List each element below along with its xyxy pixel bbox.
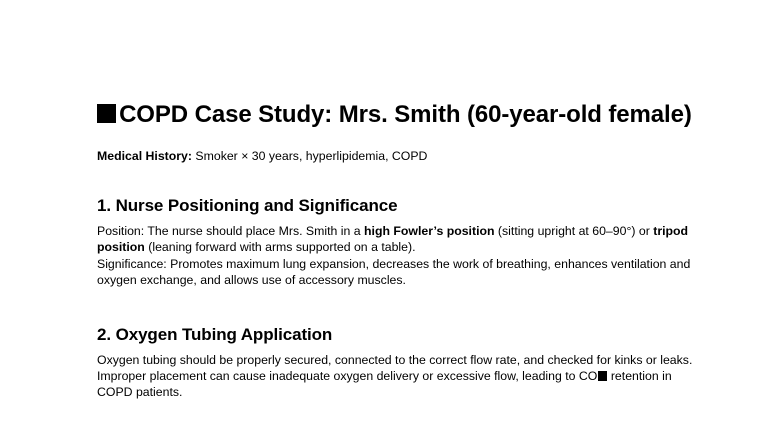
document-content: COPD Case Study: Mrs. Smith (60-year-old… xyxy=(97,100,693,401)
section-1-heading: 1. Nurse Positioning and Significance xyxy=(97,195,693,217)
section-2-paragraph: Oxygen tubing should be properly secured… xyxy=(97,352,693,401)
section-2-body: Oxygen tubing should be properly secured… xyxy=(97,352,693,401)
section-oxygen-tubing: 2. Oxygen Tubing Application Oxygen tubi… xyxy=(97,324,693,401)
black-square-tofu-icon xyxy=(598,371,608,381)
page-title-text: COPD Case Study: Mrs. Smith (60-year-old… xyxy=(119,101,692,128)
document-page: COPD Case Study: Mrs. Smith (60-year-old… xyxy=(0,0,784,441)
section-1-paragraph-significance: Significance: Promotes maximum lung expa… xyxy=(97,256,693,289)
page-title: COPD Case Study: Mrs. Smith (60-year-old… xyxy=(97,100,693,130)
medical-history-label: Medical History: xyxy=(97,149,192,163)
medical-history-line: Medical History: Smoker × 30 years, hype… xyxy=(97,148,693,164)
medical-history-value: Smoker × 30 years, hyperlipidemia, COPD xyxy=(195,149,427,163)
section-nurse-positioning: 1. Nurse Positioning and Significance Po… xyxy=(97,195,693,289)
section-2-heading: 2. Oxygen Tubing Application xyxy=(97,324,693,346)
section-1-paragraph-position: Position: The nurse should place Mrs. Sm… xyxy=(97,223,693,256)
black-square-tofu-icon xyxy=(97,104,116,123)
section-1-body: Position: The nurse should place Mrs. Sm… xyxy=(97,223,693,289)
